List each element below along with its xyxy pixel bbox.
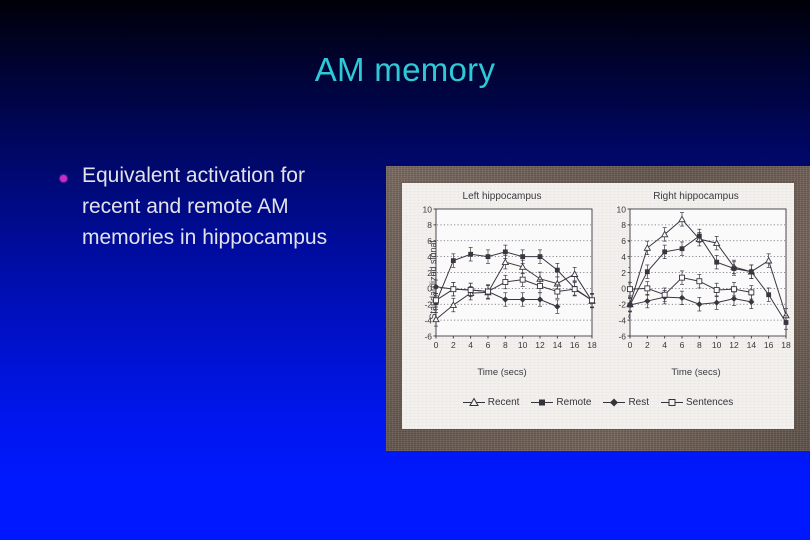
svg-text:2: 2	[645, 340, 650, 350]
svg-text:-2: -2	[424, 300, 432, 310]
svg-text:4: 4	[621, 252, 626, 262]
svg-text:10: 10	[617, 204, 627, 214]
slide: AM memory Equivalent activation for rece…	[0, 0, 810, 540]
svg-text:6: 6	[486, 340, 491, 350]
page-title: AM memory	[0, 50, 810, 90]
svg-text:12: 12	[729, 340, 739, 350]
svg-text:14: 14	[747, 340, 757, 350]
legend-label: Sentences	[686, 397, 733, 408]
legend-item-rest: Rest	[603, 397, 649, 408]
svg-text:6: 6	[427, 236, 432, 246]
list-item: Equivalent activation for recent and rem…	[60, 160, 370, 253]
svg-text:-4: -4	[618, 315, 626, 325]
plot-area-left: 1086420-2-4-6024681012141618	[406, 203, 598, 373]
open-triangle-icon	[463, 397, 485, 408]
svg-text:-6: -6	[618, 331, 626, 341]
x-axis-label-right: Time (secs)	[600, 367, 792, 378]
chart-legend: Recent Remote Rest	[402, 397, 794, 408]
svg-text:2: 2	[621, 268, 626, 278]
svg-text:2: 2	[451, 340, 456, 350]
svg-text:10: 10	[518, 340, 528, 350]
svg-text:0: 0	[427, 284, 432, 294]
svg-text:18: 18	[781, 340, 791, 350]
svg-text:10: 10	[712, 340, 722, 350]
svg-text:6: 6	[621, 236, 626, 246]
svg-text:0: 0	[621, 284, 626, 294]
legend-label: Recent	[488, 397, 520, 408]
svg-text:16: 16	[570, 340, 580, 350]
svg-text:10: 10	[423, 204, 433, 214]
svg-text:4: 4	[468, 340, 473, 350]
svg-text:-4: -4	[424, 315, 432, 325]
figure-image: Left hippocampus Standardized signal 108…	[386, 166, 810, 451]
svg-text:18: 18	[587, 340, 597, 350]
chart-title-right: Right hippocampus	[600, 191, 792, 202]
bullet-dot-icon	[60, 175, 67, 182]
filled-diamond-icon	[603, 397, 625, 408]
svg-text:-2: -2	[618, 300, 626, 310]
svg-text:8: 8	[503, 340, 508, 350]
open-square-icon	[661, 397, 683, 408]
svg-text:14: 14	[553, 340, 563, 350]
plot-area-right: 1086420-2-4-6024681012141618	[600, 203, 792, 373]
bullet-marker	[60, 160, 82, 187]
svg-text:4: 4	[662, 340, 667, 350]
figure-paper: Left hippocampus Standardized signal 108…	[402, 183, 794, 429]
legend-label: Remote	[556, 397, 591, 408]
svg-text:8: 8	[621, 220, 626, 230]
svg-text:6: 6	[680, 340, 685, 350]
filled-square-icon	[531, 397, 553, 408]
chart-panel-right: Right hippocampus Standardized signal 10…	[600, 189, 792, 387]
svg-text:8: 8	[697, 340, 702, 350]
legend-item-remote: Remote	[531, 397, 591, 408]
svg-text:-6: -6	[424, 331, 432, 341]
bullet-list: Equivalent activation for recent and rem…	[60, 160, 370, 253]
svg-text:12: 12	[535, 340, 545, 350]
legend-item-recent: Recent	[463, 397, 520, 408]
svg-text:4: 4	[427, 252, 432, 262]
svg-text:16: 16	[764, 340, 774, 350]
x-axis-label-left: Time (secs)	[406, 367, 598, 378]
bullet-text: Equivalent activation for recent and rem…	[82, 160, 344, 253]
svg-text:8: 8	[427, 220, 432, 230]
svg-text:0: 0	[434, 340, 439, 350]
legend-label: Rest	[628, 397, 649, 408]
chart-title-left: Left hippocampus	[406, 191, 598, 202]
chart-panel-left: Left hippocampus Standardized signal 108…	[406, 189, 598, 387]
svg-text:2: 2	[427, 268, 432, 278]
legend-item-sentences: Sentences	[661, 397, 733, 408]
svg-text:0: 0	[628, 340, 633, 350]
